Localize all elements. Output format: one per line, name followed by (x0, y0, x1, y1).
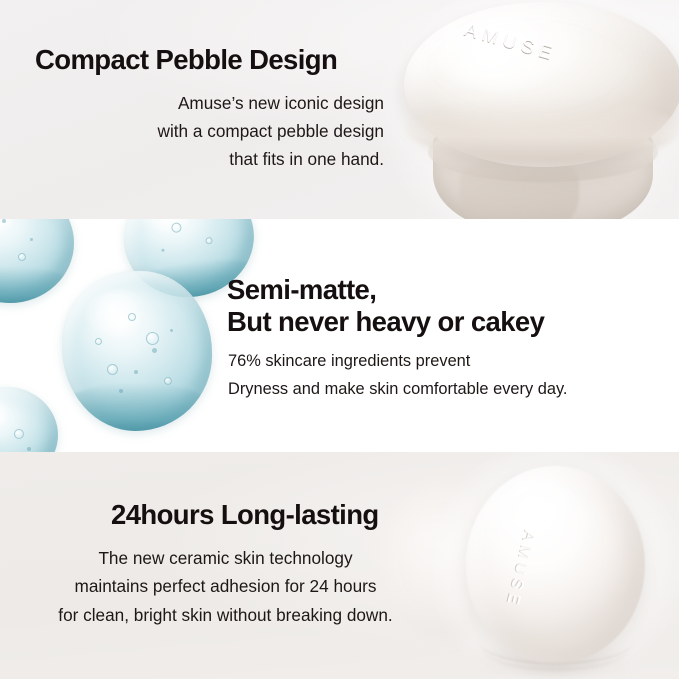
gel-bubble (14, 429, 24, 439)
gel-highlight (86, 290, 152, 338)
gel-bubble (146, 332, 159, 345)
gel-speck (30, 238, 33, 241)
gel-droplet (0, 219, 74, 303)
gel-droplet (62, 271, 212, 431)
gel-speck (152, 348, 157, 353)
gel-speck (134, 370, 138, 374)
compact-seam-secondary (483, 627, 627, 670)
panel-compact-pebble-design: AMUSE Compact Pebble Design Amuse’s new … (0, 0, 679, 219)
cushion-compact-closed-image: AMUSE (395, 0, 679, 219)
gel-speck (119, 389, 123, 393)
gel-bubble (164, 377, 172, 385)
gel-highlight (0, 399, 16, 428)
panel-1-headline: Compact Pebble Design (35, 44, 337, 76)
cushion-compact-upright-image: AMUSE (458, 462, 653, 672)
gel-speck (27, 447, 31, 451)
panel-3-headline: 24hours Long-lasting (111, 499, 379, 531)
panel-3-body-copy: The new ceramic skin technology maintain… (14, 544, 437, 629)
gel-bubble (18, 253, 26, 261)
compact-highlight (485, 479, 594, 550)
panel-2-body-copy: 76% skincare ingredients prevent Dryness… (228, 347, 568, 403)
panel-2-headline: Semi-matte, But never heavy or cakey (227, 274, 544, 339)
panel-1-body-copy: Amuse’s new iconic design with a compact… (0, 90, 384, 174)
gel-bubble (205, 237, 213, 245)
gel-speck (170, 329, 173, 332)
panel-semi-matte: Semi-matte, But never heavy or cakey 76%… (0, 219, 679, 452)
gel-speck (162, 249, 165, 252)
panel-24hours-long-lasting: AMUSE 24hours Long-lasting The new ceram… (0, 452, 679, 679)
gel-bubble (128, 313, 136, 321)
gel-bubble (95, 338, 102, 345)
gel-bubble (107, 364, 118, 375)
compact-lid-edge (407, 97, 679, 162)
product-detail-image: AMUSE Compact Pebble Design Amuse’s new … (0, 0, 679, 679)
gel-highlight (139, 219, 201, 235)
compact-lid-highlight (431, 17, 585, 92)
